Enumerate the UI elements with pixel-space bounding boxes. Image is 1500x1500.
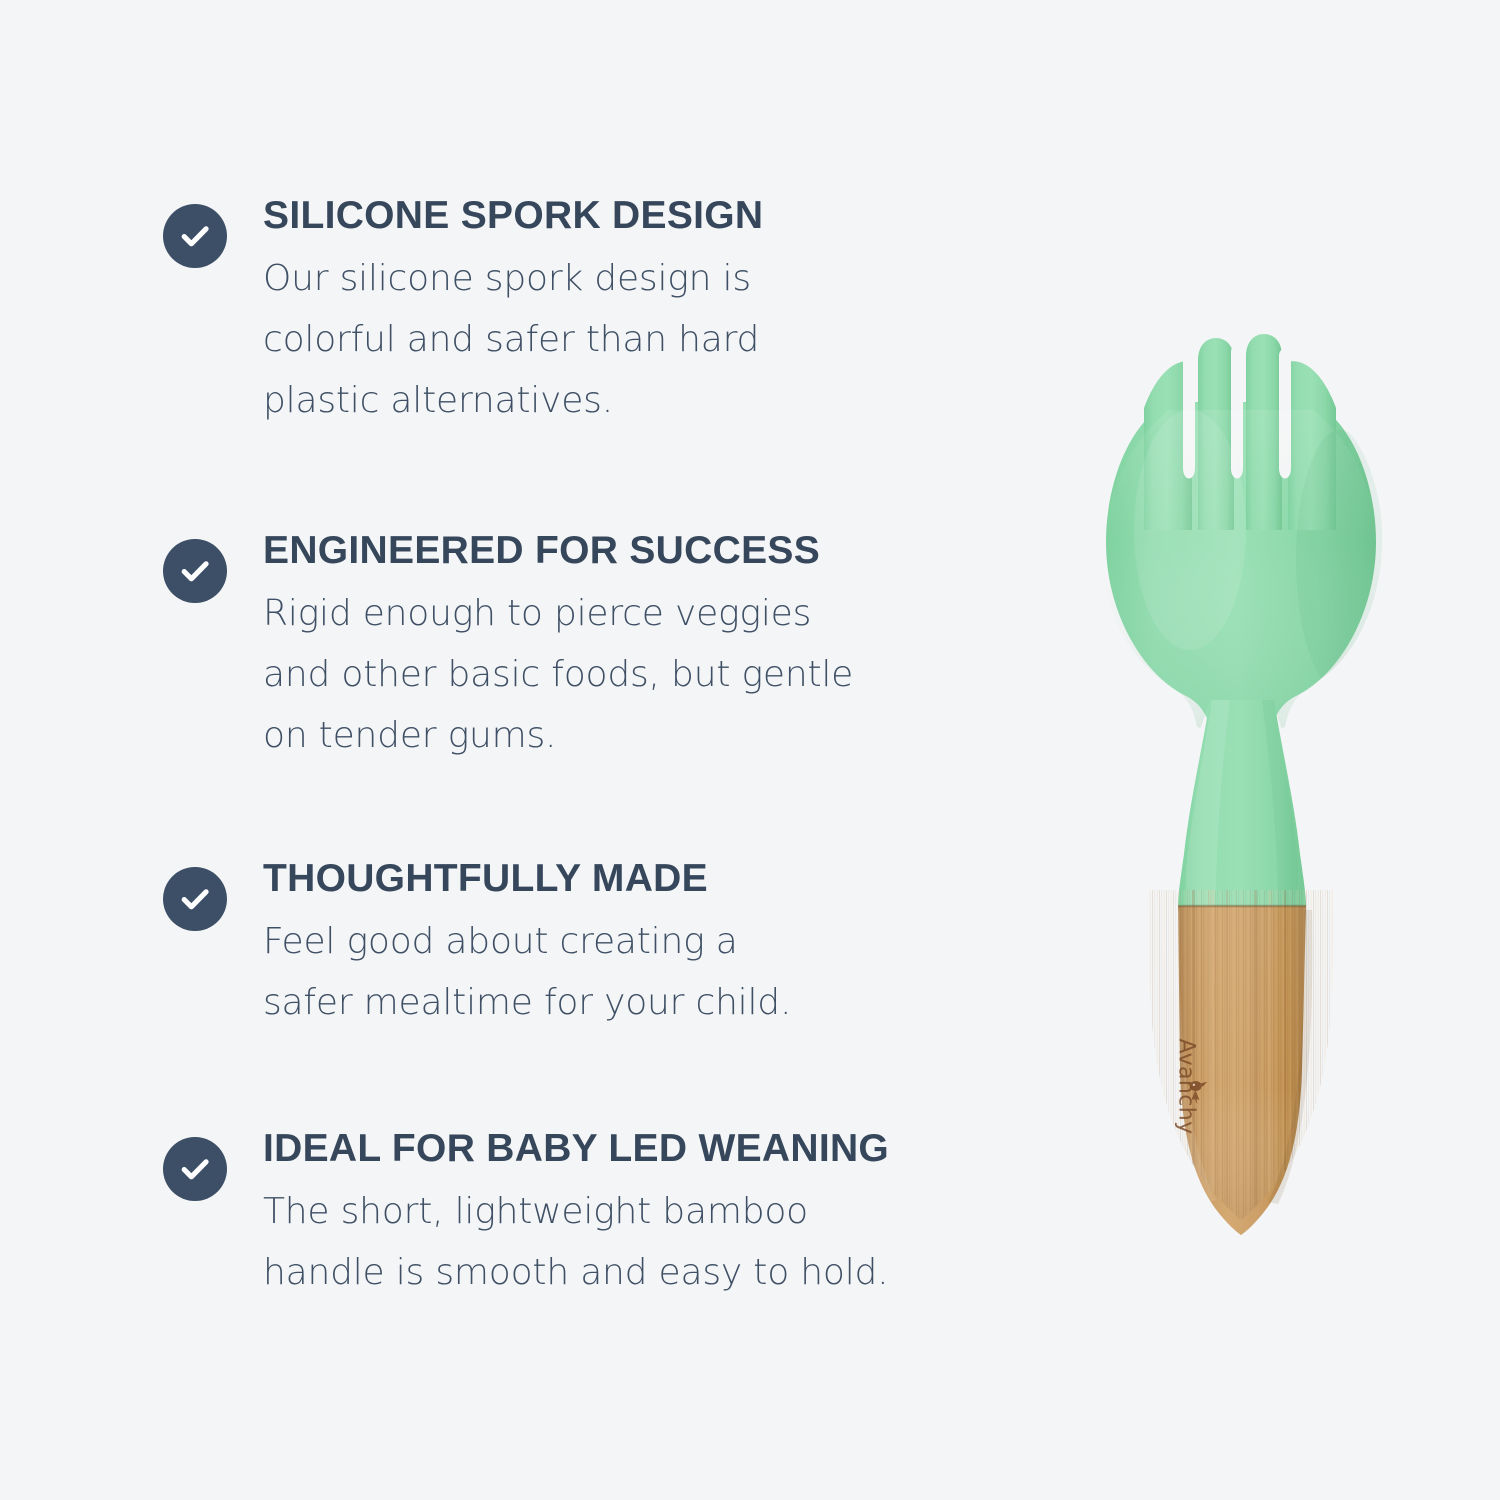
feature-description-line: safer mealtime for your child.	[263, 973, 1033, 1034]
feature-list: SILICONE SPORK DESIGN Our silicone spork…	[163, 196, 1033, 1304]
feature-description-line: plastic alternatives.	[263, 371, 1033, 432]
feature-description-line: colorful and safer than hard	[263, 310, 1033, 371]
feature-description-line: on tender gums.	[263, 706, 1033, 767]
check-circle-icon	[163, 539, 227, 603]
check-circle-icon	[163, 204, 227, 268]
check-circle-icon	[163, 867, 227, 931]
product-image-spork	[1040, 230, 1440, 1260]
spork-bamboo-handle	[1140, 890, 1360, 1250]
feature-title: IDEAL FOR BABY LED WEANING	[263, 1129, 1033, 1170]
feature-item-silicone-spork-design: SILICONE SPORK DESIGN Our silicone spork…	[163, 196, 1033, 431]
feature-description-line: and other basic foods, but gentle	[263, 645, 1033, 706]
product-feature-infographic: SILICONE SPORK DESIGN Our silicone spork…	[0, 0, 1500, 1500]
feature-description-line: Feel good about creating a	[263, 912, 1033, 973]
feature-description: The short, lightweight bamboo handle is …	[263, 1182, 1033, 1304]
feature-title: SILICONE SPORK DESIGN	[263, 196, 1033, 237]
feature-description-line: handle is smooth and easy to hold.	[263, 1243, 1033, 1304]
feature-title: ENGINEERED FOR SUCCESS	[263, 531, 1033, 572]
feature-description-line: Rigid enough to pierce veggies	[263, 584, 1033, 645]
feature-description-line: Our silicone spork design is	[263, 249, 1033, 310]
feature-item-engineered-for-success: ENGINEERED FOR SUCCESS Rigid enough to p…	[163, 531, 1033, 766]
spork-silicone-head	[1103, 334, 1384, 906]
feature-description: Feel good about creating a safer mealtim…	[263, 912, 1033, 1034]
feature-item-ideal-for-baby-led-weaning: IDEAL FOR BABY LED WEANING The short, li…	[163, 1129, 1033, 1304]
feature-description: Our silicone spork design is colorful an…	[263, 249, 1033, 431]
check-circle-icon	[163, 1137, 227, 1201]
feature-title: THOUGHTFULLY MADE	[263, 859, 1033, 900]
feature-description: Rigid enough to pierce veggies and other…	[263, 584, 1033, 766]
feature-description-line: The short, lightweight bamboo	[263, 1182, 1033, 1243]
feature-item-thoughtfully-made: THOUGHTFULLY MADE Feel good about creati…	[163, 859, 1033, 1034]
